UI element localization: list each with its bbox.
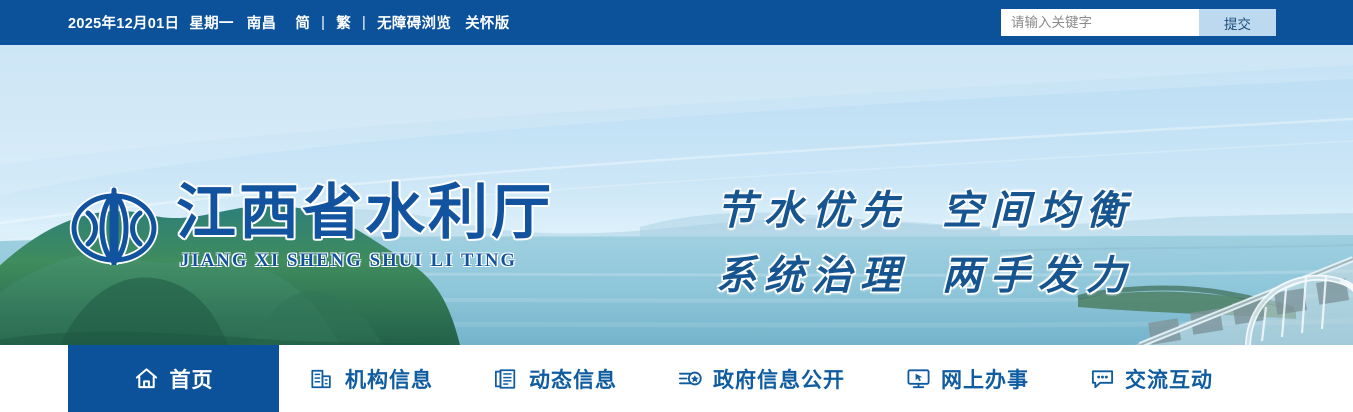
nav-item-interaction[interactable]: 交流互动 — [1059, 345, 1243, 412]
nav-label-online-services: 网上办事 — [941, 364, 1029, 394]
nav-label-interaction: 交流互动 — [1125, 364, 1213, 394]
slogan-line-1: 节水优先空间均衡 — [716, 179, 1134, 244]
nav-label-news: 动态信息 — [529, 364, 617, 394]
nav-label-organization-info: 机构信息 — [345, 364, 433, 394]
jiangxi-water-emblem-icon — [68, 187, 160, 265]
home-icon — [134, 366, 160, 392]
slogan-line-2: 系统治理两手发力 — [716, 244, 1134, 309]
speech-bubble-icon — [1089, 366, 1115, 392]
accessibility-browsing-link[interactable]: 无障碍浏览 — [377, 12, 451, 33]
top-bar: 2025年12月01日 星期一 南昌 简 | 繁 | 无障碍浏览 关怀版 提交 — [0, 0, 1353, 45]
lang-simplified-link[interactable]: 简 — [295, 12, 310, 33]
lang-traditional-link[interactable]: 繁 — [336, 12, 351, 33]
seal-star-icon — [677, 366, 703, 392]
nav-item-news[interactable]: 动态信息 — [463, 345, 647, 412]
current-date: 2025年12月01日 — [68, 12, 179, 33]
site-logo-text: 江西省水利厅 JIANG XI SHENG SHUI LI TING — [176, 183, 554, 272]
care-version-link[interactable]: 关怀版 — [465, 12, 509, 33]
current-weekday: 星期一 — [189, 12, 233, 33]
nav-item-gov-info-disclosure[interactable]: 政府信息公开 — [647, 345, 875, 412]
nav-item-organization-info[interactable]: 机构信息 — [279, 345, 463, 412]
nav-label-gov-info-disclosure: 政府信息公开 — [713, 364, 845, 394]
slogan-phrase-3: 系统治理 — [716, 253, 908, 298]
site-banner: 江西省水利厅 JIANG XI SHENG SHUI LI TING 节水优先空… — [0, 45, 1353, 345]
site-title-cn: 江西省水利厅 — [176, 183, 554, 244]
site-title-pinyin: JIANG XI SHENG SHUI LI TING — [180, 251, 554, 272]
slogan-phrase-4: 两手发力 — [942, 253, 1134, 298]
nav-item-home[interactable]: 首页 — [68, 345, 279, 412]
banner-slogan: 节水优先空间均衡 系统治理两手发力 — [716, 179, 1134, 309]
news-document-icon — [493, 366, 519, 392]
slogan-phrase-1: 节水优先 — [716, 188, 908, 233]
nav-label-home: 首页 — [170, 364, 214, 394]
slogan-phrase-2: 空间均衡 — [942, 188, 1134, 233]
building-icon — [309, 366, 335, 392]
separator-2: | — [362, 15, 366, 31]
top-bar-info: 2025年12月01日 星期一 南昌 简 | 繁 | 无障碍浏览 关怀版 — [68, 12, 510, 33]
main-navigation: 首页 机构信息 — [0, 345, 1353, 412]
search-box: 提交 — [1001, 9, 1276, 36]
search-input[interactable] — [1001, 9, 1199, 36]
nav-item-online-services[interactable]: 网上办事 — [875, 345, 1059, 412]
separator-1: | — [321, 15, 325, 31]
search-submit-button[interactable]: 提交 — [1199, 9, 1276, 36]
current-city: 南昌 — [247, 12, 277, 33]
monitor-cursor-icon — [905, 366, 931, 392]
site-logo[interactable]: 江西省水利厅 JIANG XI SHENG SHUI LI TING — [68, 183, 554, 272]
